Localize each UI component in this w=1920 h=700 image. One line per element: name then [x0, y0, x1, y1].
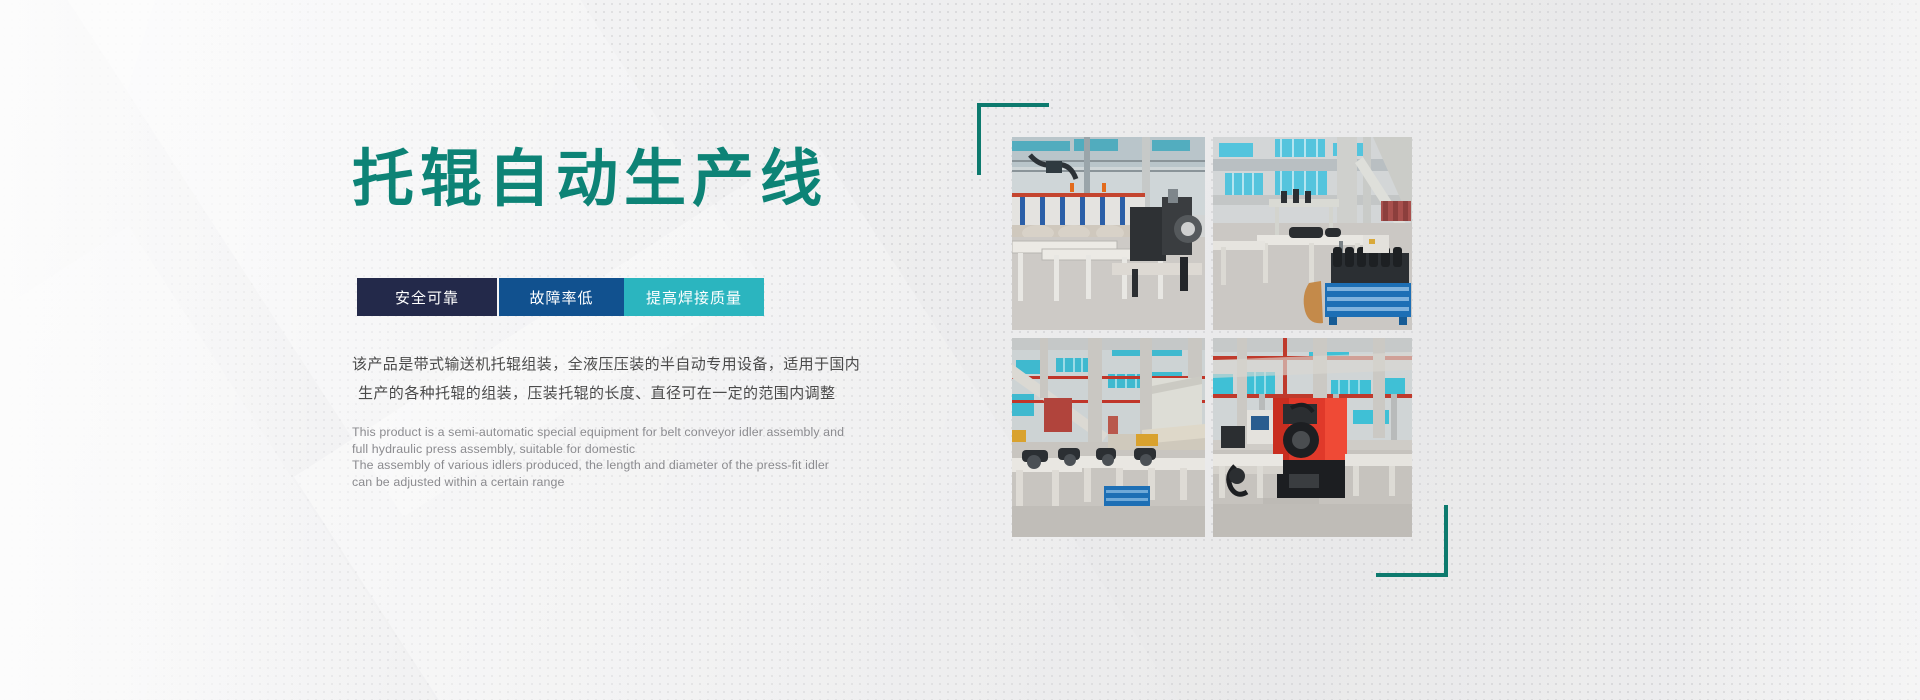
badge-improve-weld-quality[interactable]: 提高焊接质量: [624, 278, 764, 316]
page-title: 托辊自动生产线: [352, 148, 828, 210]
product-banner: 托辊自动生产线 安全可靠 故障率低 提高焊接质量 该产品是带式输送机托辊组装，全…: [0, 0, 1920, 700]
photo-grid: [1012, 137, 1412, 537]
description-chinese: 该产品是带式输送机托辊组装，全液压压装的半自动专用设备，适用于国内 生产的各种托…: [352, 350, 912, 408]
feature-badge-group: 安全可靠 故障率低 提高焊接质量: [357, 278, 764, 316]
description-english-line-1: This product is a semi-automatic special…: [352, 424, 912, 441]
description-chinese-line-2: 生产的各种托辊的组装，压装托辊的长度、直径可在一定的范围内调整: [352, 379, 912, 408]
badge-low-failure-rate[interactable]: 故障率低: [499, 278, 624, 316]
right-fade-overlay: [1680, 0, 1920, 700]
photo-factory-assembly-hall[interactable]: [1012, 338, 1205, 537]
photo-factory-conveyor-line[interactable]: [1012, 137, 1205, 330]
description-english: This product is a semi-automatic special…: [352, 424, 912, 490]
description-english-line-3: The assembly of various idlers produced,…: [352, 457, 912, 474]
left-fade-overlay: [0, 0, 320, 700]
description-english-line-4: can be adjusted within a certain range: [352, 474, 912, 491]
photo-factory-red-welding-machine[interactable]: [1213, 338, 1412, 537]
badge-safe-reliable[interactable]: 安全可靠: [357, 278, 497, 316]
photo-factory-workbench-rollers[interactable]: [1213, 137, 1412, 330]
description-english-line-2: full hydraulic press assembly, suitable …: [352, 441, 912, 458]
description-chinese-line-1: 该产品是带式输送机托辊组装，全液压压装的半自动专用设备，适用于国内: [352, 350, 912, 379]
banner-copy: 托辊自动生产线 安全可靠 故障率低 提高焊接质量 该产品是带式输送机托辊组装，全…: [352, 0, 912, 700]
